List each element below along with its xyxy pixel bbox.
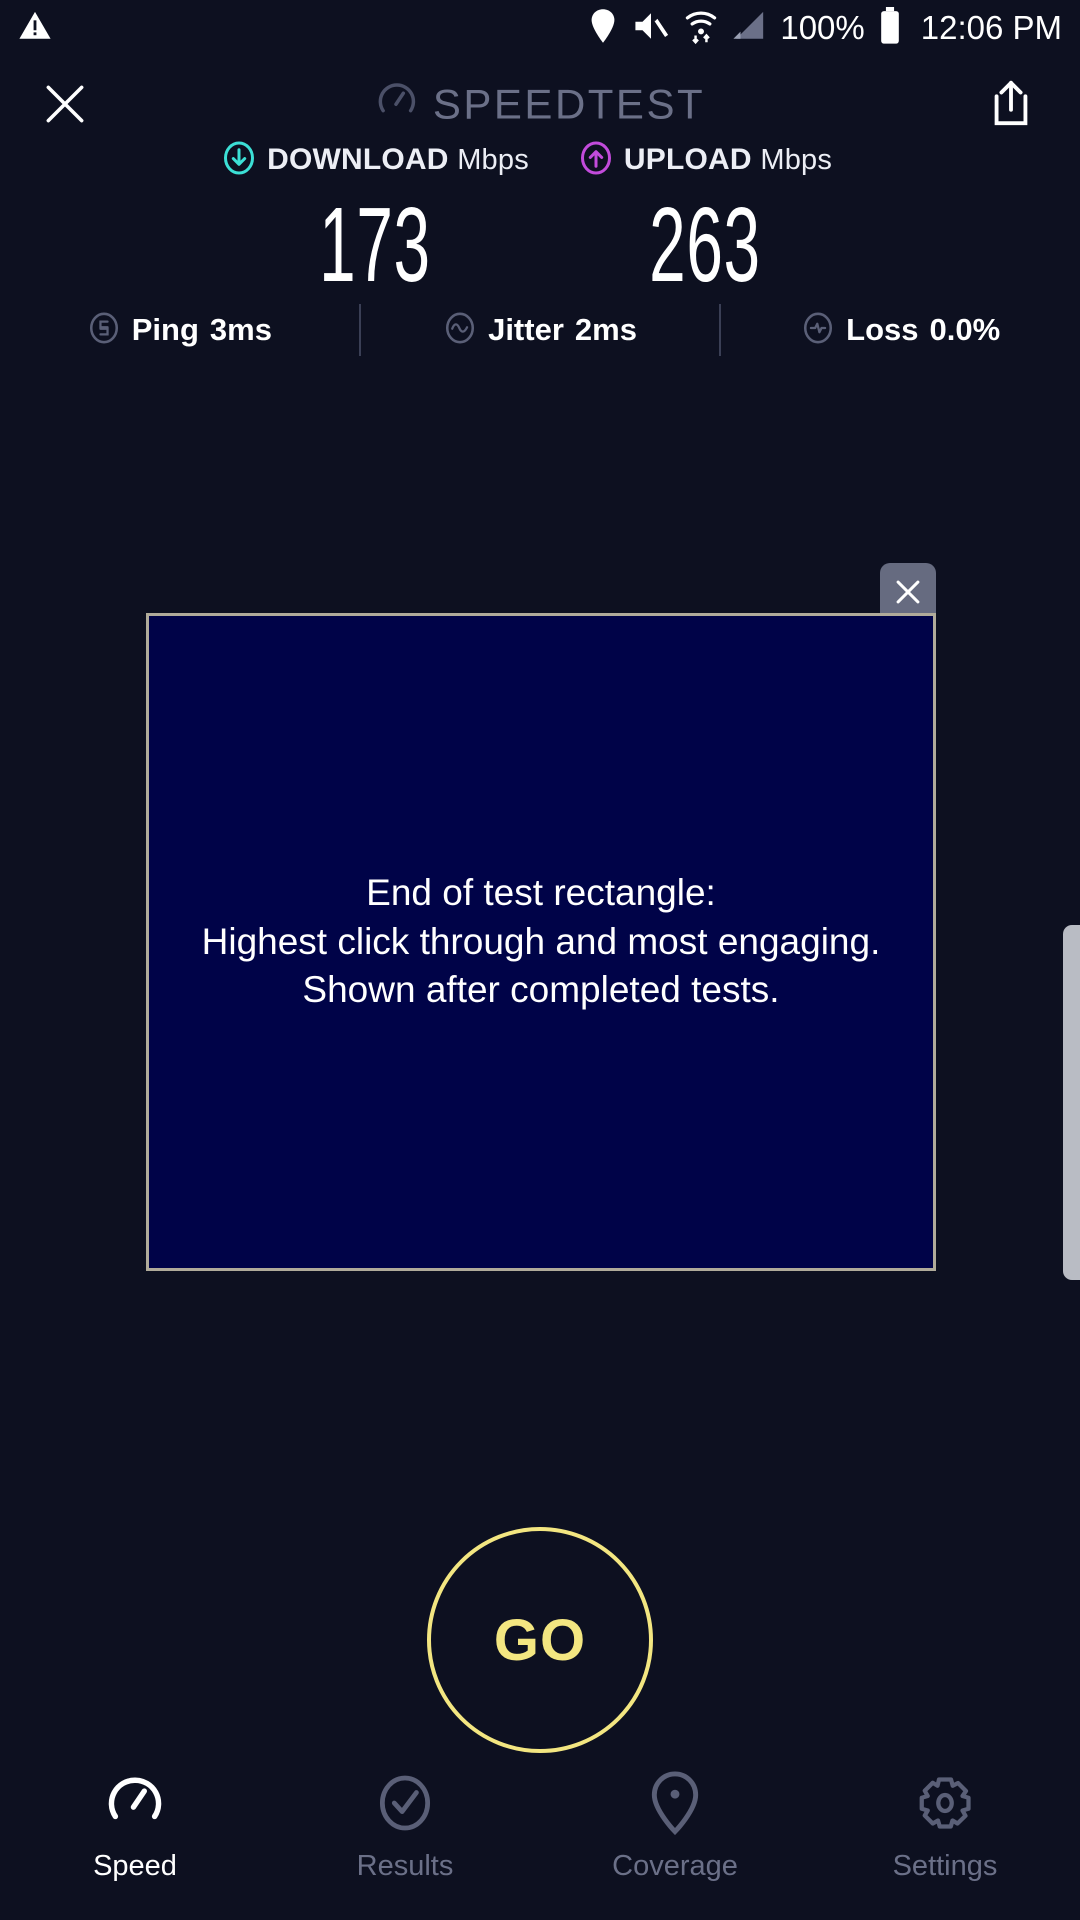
ping-value: 3ms: [210, 312, 272, 348]
nav-label-settings: Settings: [893, 1850, 998, 1883]
ping-metric: Ping 3ms: [0, 311, 359, 350]
upload-result: UPLOAD Mbps 263: [540, 140, 870, 298]
gear-icon: [915, 1772, 975, 1834]
loss-value: 0.0%: [930, 312, 1001, 348]
warning-triangle-icon: [18, 9, 52, 48]
download-value: 173: [319, 192, 431, 298]
app-header: SPEEDTEST: [0, 56, 1080, 152]
loss-icon: [801, 311, 835, 350]
battery-percent-label: 100%: [780, 9, 864, 47]
nav-label-results: Results: [357, 1850, 454, 1883]
nav-item-settings[interactable]: Settings: [810, 1760, 1080, 1920]
wifi-signal-icon: [684, 7, 718, 50]
status-bar: 100% 12:06 PM: [0, 0, 1080, 56]
brand-logo: SPEEDTEST: [375, 80, 705, 129]
jitter-metric: Jitter 2ms: [361, 311, 720, 350]
loss-label: Loss: [846, 312, 918, 348]
ad-close-x-icon: [891, 575, 925, 609]
status-bar-right: 100% 12:06 PM: [588, 7, 1062, 50]
status-bar-left: [18, 9, 52, 48]
nav-label-speed: Speed: [93, 1850, 177, 1883]
battery-full-icon: [879, 7, 901, 50]
brand-title: SPEEDTEST: [433, 80, 705, 128]
ad-line-1: End of test rectangle:: [202, 869, 881, 918]
nav-item-results[interactable]: Results: [270, 1760, 540, 1920]
vertical-scrollbar[interactable]: [1063, 925, 1080, 1280]
upload-arrow-icon: [578, 140, 614, 181]
download-arrow-icon: [221, 140, 257, 181]
jitter-label: Jitter: [488, 312, 564, 348]
close-x-icon: [40, 79, 90, 129]
download-header: DOWNLOAD Mbps: [221, 140, 529, 180]
location-pin-icon: [588, 8, 618, 49]
download-label: DOWNLOAD Mbps: [267, 143, 529, 177]
close-test-button[interactable]: [38, 77, 92, 131]
speed-results-row: DOWNLOAD Mbps 173 UPLOAD Mbps 263: [0, 140, 1080, 298]
nav-item-coverage[interactable]: Coverage: [540, 1760, 810, 1920]
volume-muted-icon: [632, 9, 670, 48]
jitter-wave-icon: [443, 311, 477, 350]
loss-metric: Loss 0.0%: [721, 311, 1080, 350]
download-result: DOWNLOAD Mbps 173: [210, 140, 540, 298]
ad-line-3: Shown after completed tests.: [202, 966, 881, 1015]
upload-label: UPLOAD Mbps: [624, 143, 832, 177]
share-result-button[interactable]: [984, 77, 1038, 131]
upload-header: UPLOAD Mbps: [578, 140, 832, 180]
nav-label-coverage: Coverage: [612, 1850, 738, 1883]
speedometer-icon: [104, 1772, 166, 1834]
cellular-signal-icon: [732, 10, 766, 47]
bottom-navigation: Speed Results Coverage Settings: [0, 1760, 1080, 1920]
advertisement-banner[interactable]: End of test rectangle: Highest click thr…: [146, 613, 936, 1271]
ping-icon: [87, 311, 121, 350]
ad-text: End of test rectangle: Highest click thr…: [202, 869, 881, 1015]
location-pin-icon: [650, 1772, 700, 1834]
go-button[interactable]: GO: [427, 1527, 653, 1753]
status-bar-clock: 12:06 PM: [921, 9, 1062, 47]
upload-value: 263: [649, 192, 761, 298]
ad-line-2: Highest click through and most engaging.: [202, 918, 881, 967]
results-panel: DOWNLOAD Mbps 173 UPLOAD Mbps 263: [0, 140, 1080, 298]
share-upload-icon: [987, 79, 1035, 129]
connection-metrics-row: Ping 3ms Jitter 2ms Loss 0.0%: [0, 300, 1080, 360]
check-circle-icon: [376, 1772, 434, 1834]
nav-item-speed[interactable]: Speed: [0, 1760, 270, 1920]
go-button-label: GO: [494, 1607, 586, 1674]
speedometer-icon: [375, 80, 419, 129]
jitter-value: 2ms: [575, 312, 637, 348]
ping-label: Ping: [132, 312, 199, 348]
